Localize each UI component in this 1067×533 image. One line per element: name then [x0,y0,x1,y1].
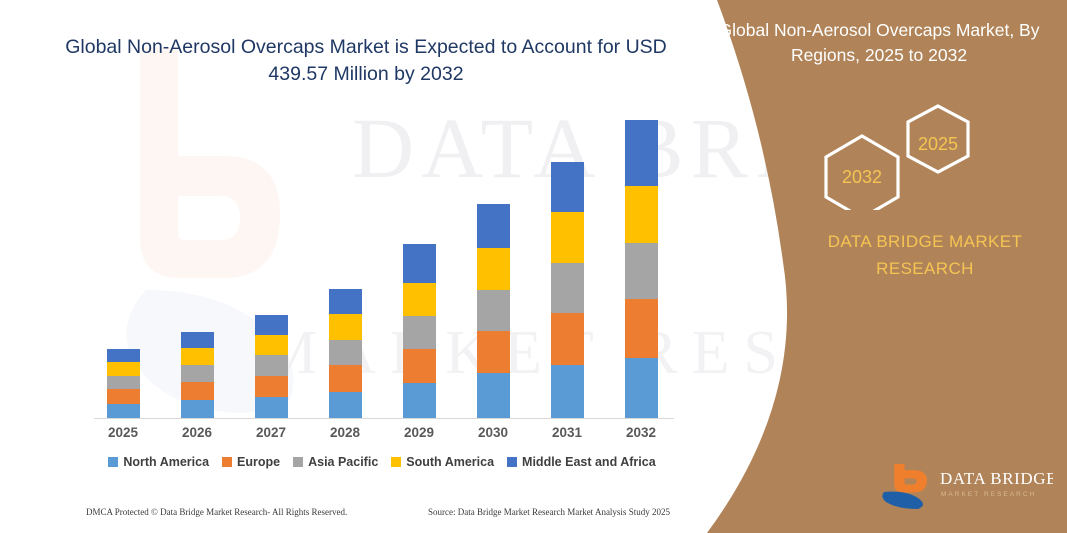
bar-segment[interactable] [181,332,214,348]
bar-segment[interactable] [625,243,658,299]
legend-label: South America [406,455,494,469]
bar-segment[interactable] [329,340,362,365]
x-tick-2029: 2029 [384,425,454,440]
legend-swatch-icon [108,457,118,467]
bar-segment[interactable] [477,248,510,289]
svg-text:2025: 2025 [918,134,958,154]
svg-text:DATA BRIDGE: DATA BRIDGE [940,469,1053,488]
bar-segment[interactable] [403,283,436,316]
stacked-bar[interactable] [403,244,436,418]
bar-segment[interactable] [255,355,288,375]
bar-segment[interactable] [551,162,584,212]
x-tick-2032: 2032 [606,425,676,440]
stacked-bar[interactable] [477,204,510,418]
legend-label: Middle East and Africa [522,455,656,469]
svg-text:MARKET RESEARCH: MARKET RESEARCH [941,491,1036,498]
bar-segment[interactable] [107,376,140,390]
bar-segment[interactable] [329,314,362,339]
bar-segment[interactable] [403,383,436,418]
bar-segment[interactable] [625,299,658,357]
bar-segment[interactable] [625,120,658,186]
bar-segment[interactable] [181,348,214,365]
legend-item[interactable]: North America [108,455,209,469]
bar-segment[interactable] [107,362,140,376]
page-title: Global Non-Aerosol Overcaps Market is Ex… [60,34,672,88]
data-bridge-logo: DATA BRIDGE MARKET RESEARCH [878,462,1053,510]
bar-column-2029 [384,120,454,418]
legend-label: North America [123,455,209,469]
bar-segment[interactable] [625,186,658,243]
bar-segment[interactable] [625,358,658,418]
bar-segment[interactable] [329,289,362,314]
bar-column-2030 [458,120,528,418]
infographic-page: DATA BRIDGE MARKET RESEARCH Global Non-A… [0,0,1067,533]
bar-column-2031 [532,120,602,418]
stacked-bar[interactable] [107,349,140,418]
legend-swatch-icon [507,457,517,467]
bar-column-2032 [606,120,676,418]
legend-label: Europe [237,455,280,469]
footer-copyright: DMCA Protected © Data Bridge Market Rese… [86,507,347,517]
stacked-bar[interactable] [255,315,288,418]
brand-name: DATA BRIDGE MARKET RESEARCH [790,228,1060,282]
panel-title: Global Non-Aerosol Overcaps Market, By R… [705,18,1053,68]
bar-segment[interactable] [181,400,214,418]
x-axis-line [94,418,674,419]
stacked-bar[interactable] [551,162,584,418]
chart-legend: North AmericaEuropeAsia PacificSouth Ame… [86,455,678,469]
bar-segment[interactable] [329,365,362,392]
bar-segment[interactable] [255,376,288,397]
legend-item[interactable]: Europe [222,455,280,469]
bar-segment[interactable] [477,290,510,331]
legend-item[interactable]: Middle East and Africa [507,455,656,469]
x-tick-2025: 2025 [88,425,158,440]
stacked-bar[interactable] [181,332,214,418]
bar-segment[interactable] [255,315,288,335]
bar-segment[interactable] [403,349,436,383]
stacked-bar[interactable] [625,120,658,418]
x-axis-tick-labels: 20252026202720282029203020312032 [86,425,678,440]
stacked-bar[interactable] [329,289,362,418]
bar-segment[interactable] [255,397,288,418]
footer-source: Source: Data Bridge Market Research Mark… [428,507,670,517]
legend-swatch-icon [391,457,401,467]
bar-segment[interactable] [181,365,214,382]
x-tick-2028: 2028 [310,425,380,440]
bar-segment[interactable] [107,389,140,404]
svg-text:2032: 2032 [842,167,882,187]
bar-segment[interactable] [551,313,584,365]
chart-plot-area [86,120,678,418]
bar-segment[interactable] [477,204,510,249]
bar-segment[interactable] [255,335,288,355]
bar-segment[interactable] [477,373,510,418]
x-tick-2026: 2026 [162,425,232,440]
x-tick-2027: 2027 [236,425,306,440]
legend-item[interactable]: South America [391,455,494,469]
bar-segment[interactable] [551,365,584,418]
legend-swatch-icon [293,457,303,467]
bar-segment[interactable] [329,392,362,419]
bar-segment[interactable] [107,349,140,362]
legend-swatch-icon [222,457,232,467]
bar-segment[interactable] [551,212,584,263]
bar-column-2026 [162,120,232,418]
legend-item[interactable]: Asia Pacific [293,455,378,469]
bar-segment[interactable] [181,382,214,400]
bar-segment[interactable] [477,331,510,373]
bar-segment[interactable] [551,263,584,313]
bar-column-2027 [236,120,306,418]
x-tick-2031: 2031 [532,425,602,440]
bar-column-2028 [310,120,380,418]
bar-segment[interactable] [403,244,436,283]
bar-segment[interactable] [107,404,140,418]
stacked-bar-chart [86,120,678,420]
legend-label: Asia Pacific [308,455,378,469]
bar-segment[interactable] [403,316,436,349]
hexagon-badges: 2025 2032 [820,100,1020,210]
bar-column-2025 [88,120,158,418]
x-tick-2030: 2030 [458,425,528,440]
